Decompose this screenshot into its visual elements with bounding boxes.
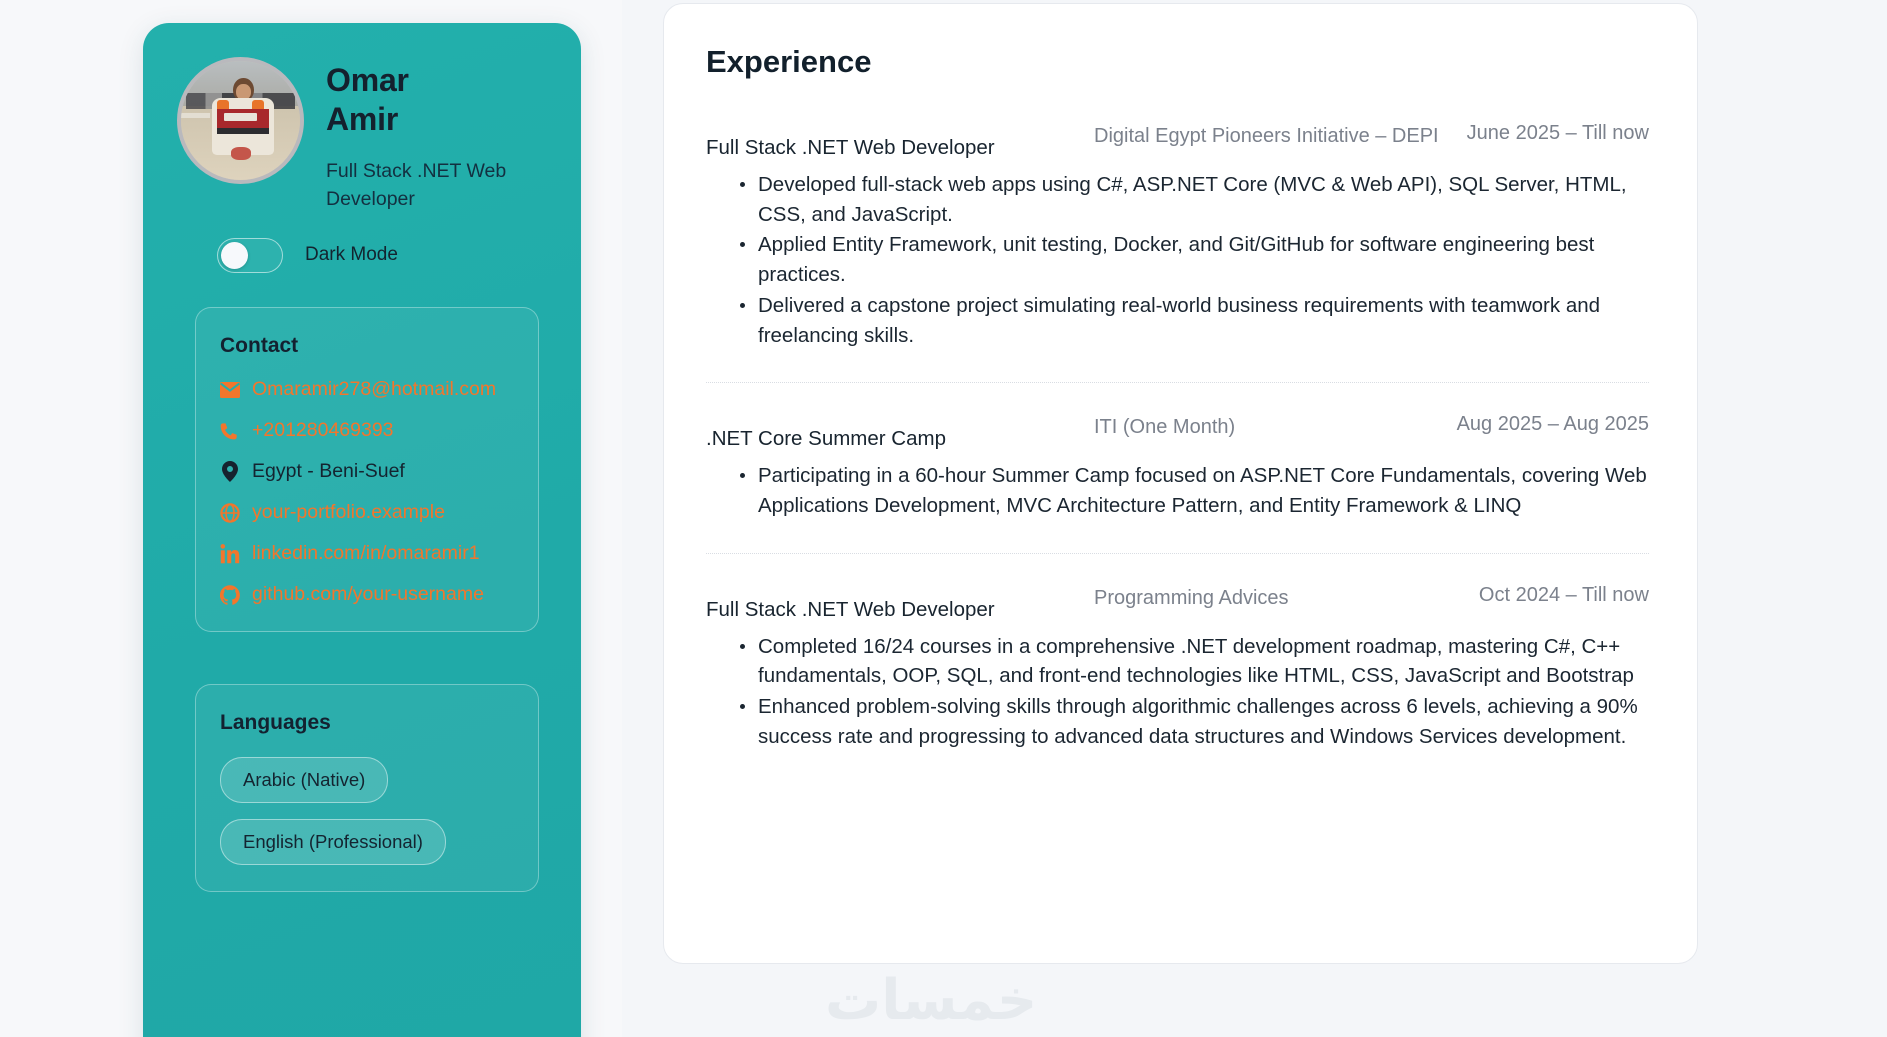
language-chip-english: English (Professional) bbox=[220, 819, 446, 865]
contact-email-text: Omaramir278@hotmail.com bbox=[252, 380, 496, 400]
profile-name: Omar Amir bbox=[326, 61, 531, 139]
avatar bbox=[177, 57, 304, 184]
languages-title: Languages bbox=[220, 711, 514, 735]
language-chip-arabic: Arabic (Native) bbox=[220, 757, 388, 803]
contact-item-linkedin[interactable]: linkedin.com/in/omaramir1 bbox=[220, 544, 514, 564]
dark-mode-row: Dark Mode bbox=[217, 238, 547, 273]
contact-item-email[interactable]: Omaramir278@hotmail.com bbox=[220, 380, 514, 400]
experience-item-header: .NET Core Summer Camp ITI (One Month) Au… bbox=[706, 413, 1649, 451]
experience-bullets: Participating in a 60-hour Summer Camp f… bbox=[706, 461, 1649, 520]
languages-card: Languages Arabic (Native) English (Profe… bbox=[195, 684, 539, 892]
linkedin-icon bbox=[220, 544, 240, 564]
experience-date-range: Aug 2025 – Aug 2025 bbox=[1457, 413, 1649, 436]
contact-list: Omaramir278@hotmail.com +201280469393 Eg… bbox=[220, 380, 514, 605]
experience-bullet: Developed full-stack web apps using C#, … bbox=[706, 170, 1649, 229]
contact-phone-text: +201280469393 bbox=[252, 421, 394, 441]
experience-organization: ITI (One Month) bbox=[1094, 413, 1457, 442]
experience-bullet: Enhanced problem-solving skills through … bbox=[706, 692, 1649, 751]
profile-first-name: Omar bbox=[326, 61, 531, 100]
experience-organization: Programming Advices bbox=[1094, 584, 1479, 613]
globe-icon bbox=[220, 503, 240, 523]
experience-bullet: Delivered a capstone project simulating … bbox=[706, 291, 1649, 350]
experience-bullet: Completed 16/24 courses in a comprehensi… bbox=[706, 632, 1649, 691]
page-title: Experience bbox=[706, 44, 1649, 80]
dark-mode-label: Dark Mode bbox=[305, 244, 398, 266]
resume-page: Omar Amir Full Stack .NET Web Developer … bbox=[0, 0, 1887, 1037]
dark-mode-toggle[interactable] bbox=[217, 238, 283, 273]
sidebar: Omar Amir Full Stack .NET Web Developer … bbox=[143, 23, 581, 1037]
contact-item-github[interactable]: github.com/your-username bbox=[220, 585, 514, 605]
contact-portfolio-text: your-portfolio.example bbox=[252, 503, 445, 523]
contact-item-portfolio[interactable]: your-portfolio.example bbox=[220, 503, 514, 523]
github-icon bbox=[220, 585, 240, 605]
experience-bullets: Completed 16/24 courses in a comprehensi… bbox=[706, 632, 1649, 752]
experience-item: Full Stack .NET Web Developer Digital Eg… bbox=[706, 120, 1649, 382]
profile-header: Omar Amir Full Stack .NET Web Developer bbox=[177, 57, 547, 214]
experience-item-header: Full Stack .NET Web Developer Digital Eg… bbox=[706, 120, 1649, 160]
contact-github-text: github.com/your-username bbox=[252, 585, 484, 605]
experience-date-range: Oct 2024 – Till now bbox=[1479, 584, 1649, 607]
location-icon bbox=[220, 462, 240, 482]
experience-item: Full Stack .NET Web Developer Programmin… bbox=[706, 553, 1649, 784]
email-icon bbox=[220, 380, 240, 400]
contact-location-text: Egypt - Beni-Suef bbox=[252, 462, 405, 482]
experience-item-header: Full Stack .NET Web Developer Programmin… bbox=[706, 584, 1649, 622]
profile-role: Full Stack .NET Web Developer bbox=[326, 157, 531, 214]
experience-organization: Digital Egypt Pioneers Initiative – DEPI bbox=[1094, 120, 1467, 151]
name-block: Omar Amir Full Stack .NET Web Developer bbox=[326, 57, 531, 214]
experience-item: .NET Core Summer Camp ITI (One Month) Au… bbox=[706, 382, 1649, 552]
experience-bullets: Developed full-stack web apps using C#, … bbox=[706, 170, 1649, 350]
contact-card: Contact Omaramir278@hotmail.com +2012804… bbox=[195, 307, 539, 632]
experience-panel: Experience Full Stack .NET Web Developer… bbox=[663, 3, 1698, 964]
toggle-knob bbox=[221, 242, 248, 269]
experience-bullet: Applied Entity Framework, unit testing, … bbox=[706, 230, 1649, 289]
contact-item-location: Egypt - Beni-Suef bbox=[220, 462, 514, 482]
experience-job-title: Full Stack .NET Web Developer bbox=[706, 584, 1094, 622]
experience-bullet: Participating in a 60-hour Summer Camp f… bbox=[706, 461, 1649, 520]
watermark: خمسات bbox=[825, 968, 1037, 1033]
contact-item-phone[interactable]: +201280469393 bbox=[220, 421, 514, 441]
languages-list: Arabic (Native) English (Professional) bbox=[220, 757, 514, 865]
experience-job-title: Full Stack .NET Web Developer bbox=[706, 120, 1094, 160]
phone-icon bbox=[220, 421, 240, 441]
profile-last-name: Amir bbox=[326, 100, 531, 139]
experience-date-range: June 2025 – Till now bbox=[1467, 120, 1649, 145]
contact-title: Contact bbox=[220, 334, 514, 358]
contact-linkedin-text: linkedin.com/in/omaramir1 bbox=[252, 544, 480, 564]
experience-job-title: .NET Core Summer Camp bbox=[706, 413, 1094, 451]
